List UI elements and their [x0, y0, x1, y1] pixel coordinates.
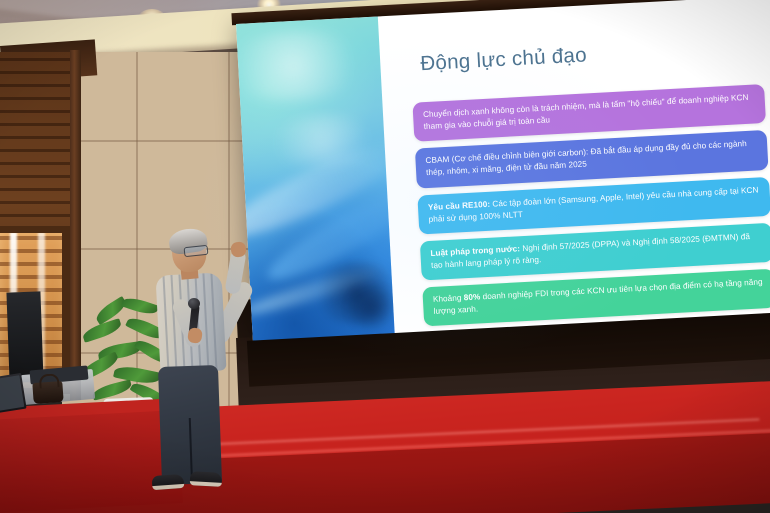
handbag	[32, 381, 63, 404]
presenter-trousers	[158, 365, 222, 485]
presenter-shoe	[152, 474, 185, 490]
slide-title: Động lực chủ đạo	[420, 43, 588, 76]
microphone-head	[188, 298, 200, 309]
projection-screen: Động lực chủ đạo Chuyển dịch xanh không …	[236, 0, 770, 354]
presenter	[146, 232, 262, 498]
slide-surface: Động lực chủ đạo Chuyển dịch xanh không …	[236, 0, 770, 342]
handbag-handle	[39, 373, 60, 388]
slide-bullet-list: Chuyển dịch xanh không còn là trách nhiệ…	[412, 84, 770, 334]
laptop-screen	[0, 375, 24, 411]
window-frame	[0, 226, 70, 233]
conference-photo-scene: Động lực chủ đạo Chuyển dịch xanh không …	[0, 0, 770, 513]
presenter-shoe	[190, 471, 223, 487]
